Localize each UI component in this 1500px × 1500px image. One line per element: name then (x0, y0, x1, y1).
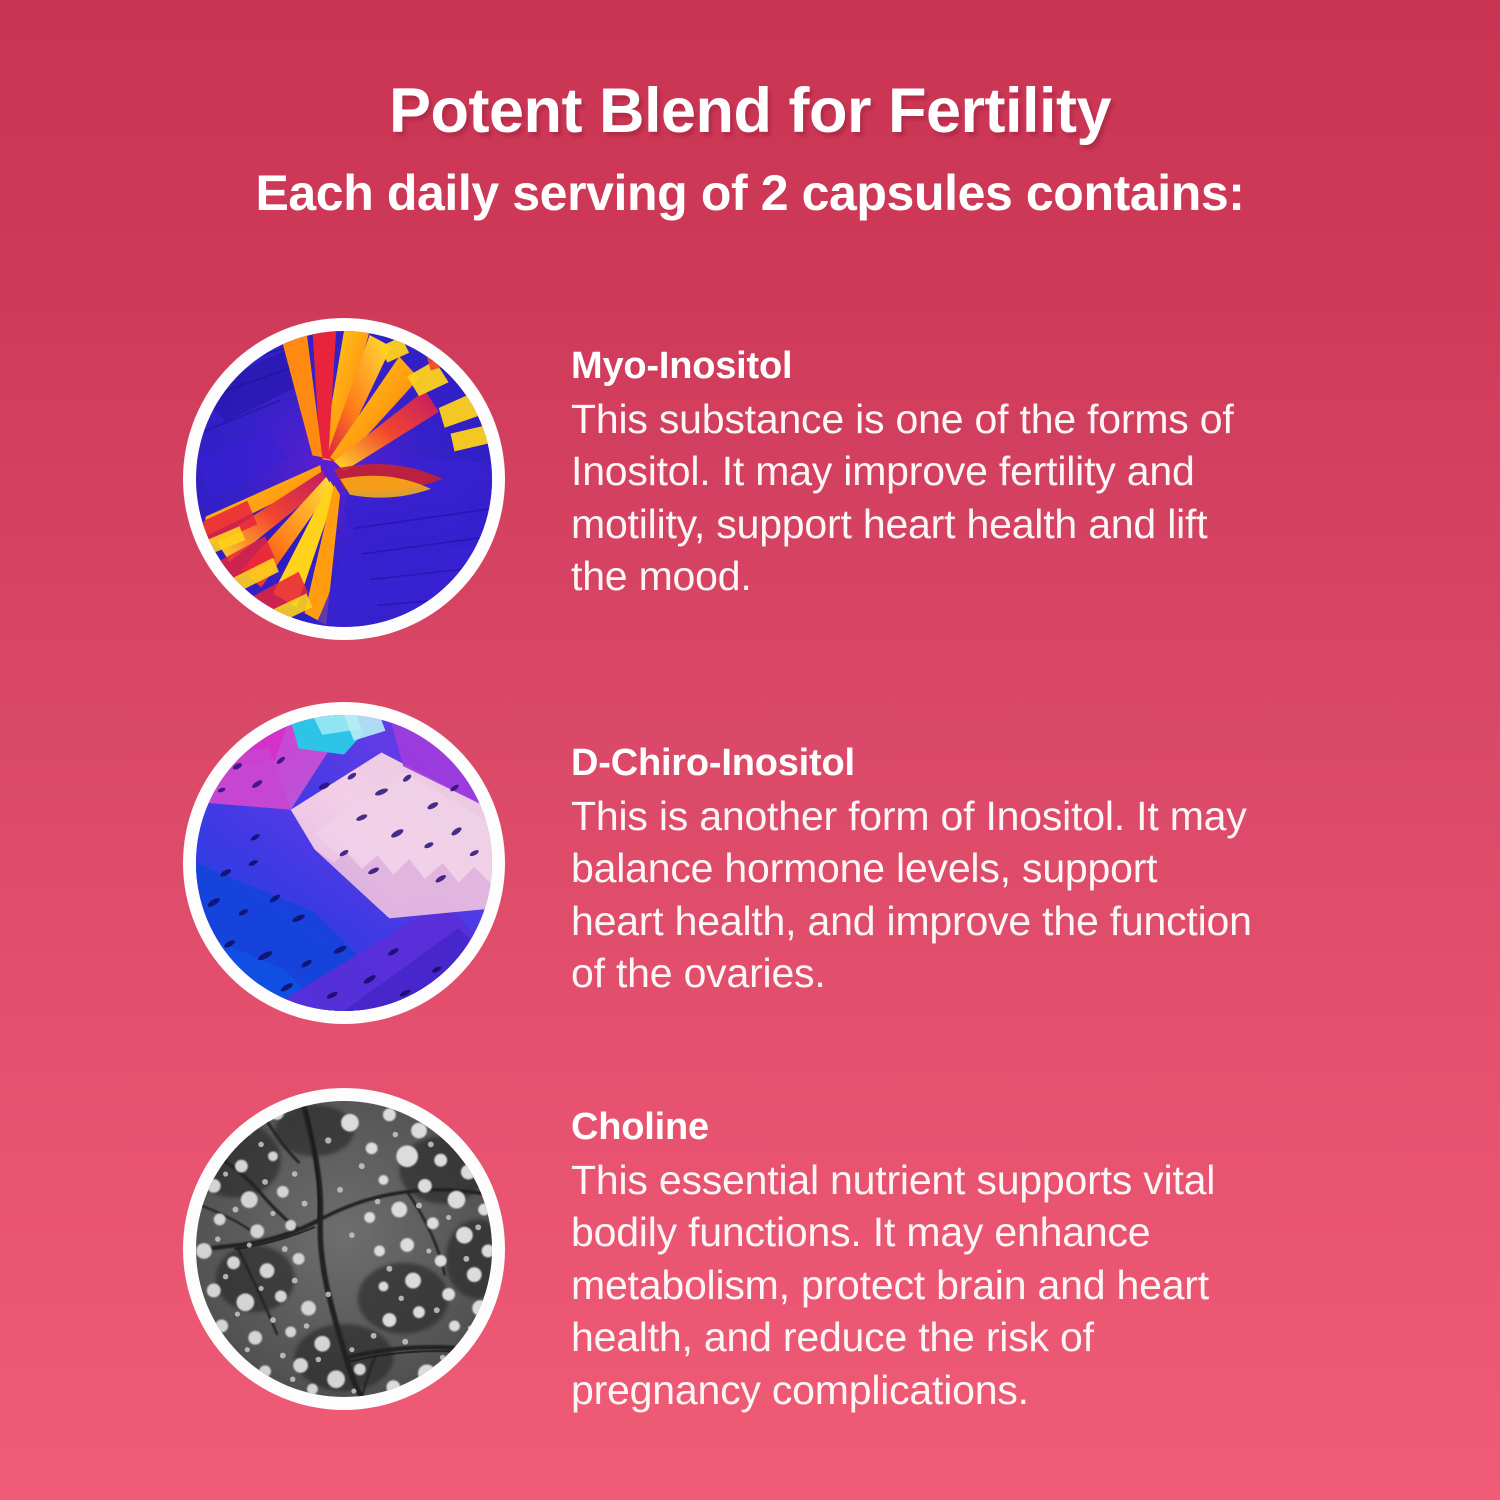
ingredient-row: Choline This essential nutrient supports… (0, 1088, 1500, 1416)
choline-cell-micrograph-icon (196, 1101, 492, 1397)
ingredient-image-frame (183, 702, 505, 1024)
header: Potent Blend for Fertility Each daily se… (0, 0, 1500, 221)
ingredient-list: Myo-Inositol This substance is one of th… (0, 318, 1500, 1416)
ingredient-description: This essential nutrient supports vital b… (571, 1154, 1260, 1416)
ingredient-text: Choline This essential nutrient supports… (505, 1088, 1260, 1416)
page-title: Potent Blend for Fertility (0, 78, 1500, 144)
ingredient-name: Choline (571, 1106, 1260, 1150)
fertility-supplement-infographic: Potent Blend for Fertility Each daily se… (0, 0, 1500, 1500)
ingredient-text: D-Chiro-Inositol This is another form of… (505, 702, 1260, 1000)
ingredient-name: D-Chiro-Inositol (571, 742, 1260, 786)
ingredient-image-frame (183, 318, 505, 640)
ingredient-description: This is another form of Inositol. It may… (571, 790, 1260, 1000)
ingredient-row: Myo-Inositol This substance is one of th… (0, 318, 1500, 640)
d-chiro-inositol-crystal-micrograph-icon (196, 715, 492, 1011)
myo-inositol-crystal-micrograph-icon (196, 331, 492, 627)
ingredient-image-frame (183, 1088, 505, 1410)
ingredient-text: Myo-Inositol This substance is one of th… (505, 318, 1260, 603)
page-subtitle: Each daily serving of 2 capsules contain… (0, 144, 1500, 221)
ingredient-description: This substance is one of the forms of In… (571, 393, 1260, 603)
ingredient-row: D-Chiro-Inositol This is another form of… (0, 702, 1500, 1024)
ingredient-name: Myo-Inositol (571, 345, 1260, 389)
